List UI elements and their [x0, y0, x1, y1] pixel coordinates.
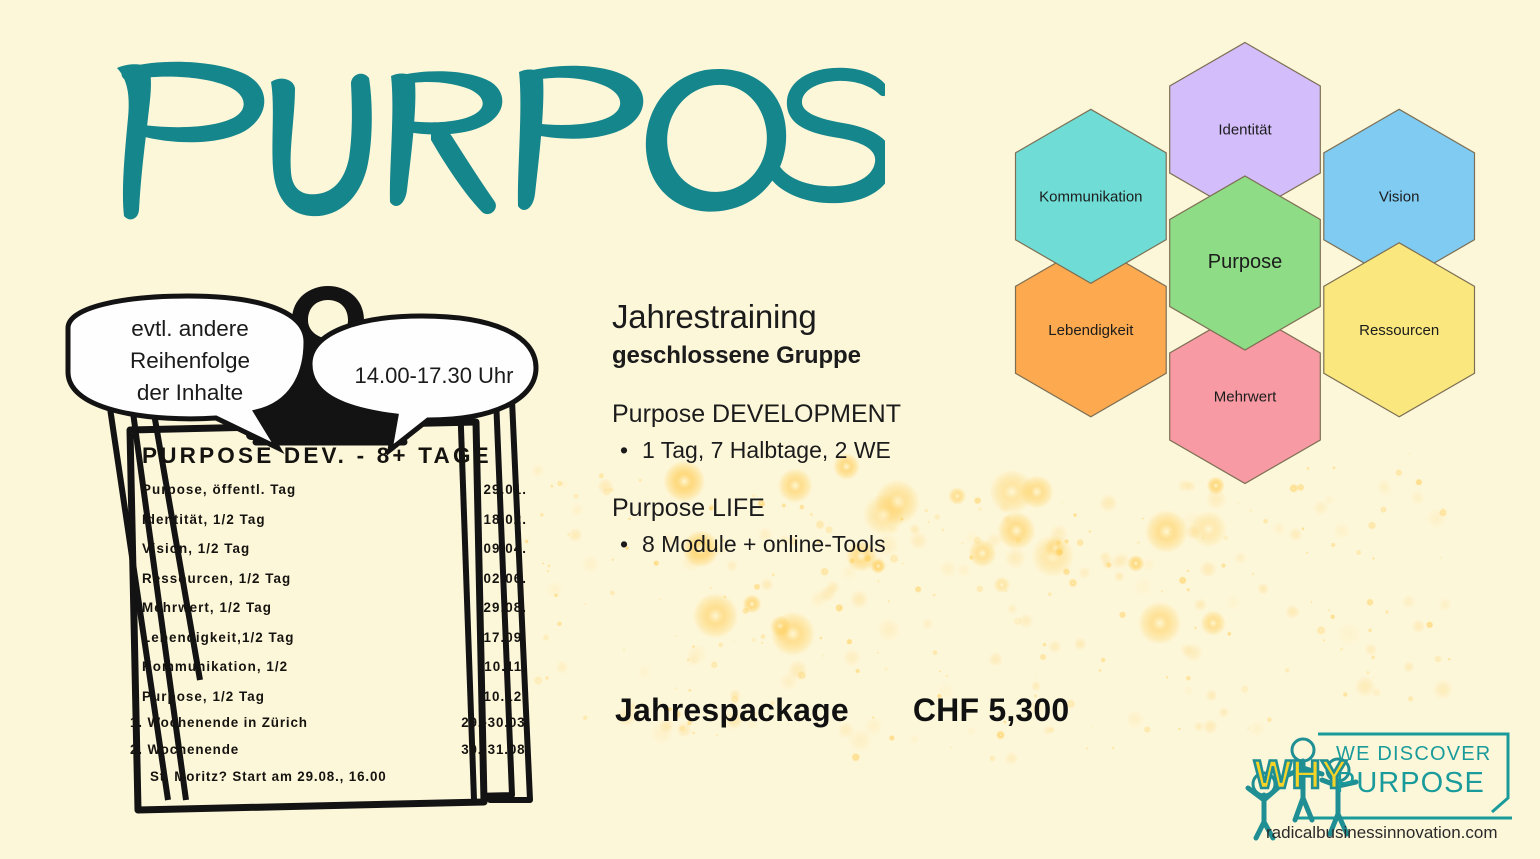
bokeh-particle: [1183, 643, 1203, 663]
logo[interactable]: WHY WE DISCOVER PURPOSE radicalbusinessi…: [1240, 726, 1530, 846]
bokeh-particle: [1225, 594, 1242, 611]
price-label: Jahrespackage: [615, 692, 849, 729]
bokeh-particle: [733, 640, 735, 642]
bokeh-particle: [1183, 685, 1194, 696]
bokeh-particle: [1411, 619, 1425, 633]
why-mark-text: WHY: [1254, 753, 1348, 797]
logo-tagline-line2: PURPOSE: [1336, 767, 1485, 799]
schedule-row-label: Lebendigkeit,1/2 Tag: [142, 630, 294, 645]
bokeh-particle: [1186, 588, 1190, 592]
bokeh-particle: [1439, 508, 1448, 517]
bokeh-particle: [1385, 610, 1389, 614]
bokeh-particle: [1440, 557, 1442, 559]
schedule-row: Kommunikation, 1/210.11.: [142, 659, 527, 689]
weekend-list: 1. Wochenende in Zürich29.-30.03.2. Woch…: [130, 715, 530, 796]
schedule-row: Mehrwert, 1/2 Tag29.08.: [142, 600, 527, 630]
bokeh-particle: [848, 728, 873, 753]
section-development-title: Purpose DEVELOPMENT: [612, 398, 1042, 431]
bokeh-particle: [760, 578, 773, 591]
bokeh-particle: [950, 746, 952, 748]
bokeh-particle: [1323, 494, 1335, 506]
bokeh-particle: [996, 730, 1005, 739]
schedule-row-label: Kommunikation, 1/2: [142, 659, 288, 674]
weekend-row-label: 1. Wochenende in Zürich: [130, 715, 308, 742]
bokeh-particle: [1048, 640, 1062, 654]
bokeh-particle: [1249, 509, 1252, 512]
bokeh-particle: [1035, 674, 1037, 676]
hexagon-label: Ressourcen: [1359, 322, 1439, 339]
weekend-row-label: 2. Wochenende: [130, 742, 239, 769]
schedule-row: Lebendigkeit,1/2 Tag17.09.: [142, 630, 527, 660]
bokeh-particle: [1086, 747, 1089, 750]
bokeh-highlight: [1127, 555, 1144, 572]
bokeh-particle: [1366, 598, 1374, 606]
bokeh-particle: [1074, 637, 1087, 650]
section-life-title: Purpose LIFE: [612, 492, 1042, 525]
bokeh-particle: [709, 586, 712, 589]
bokeh-particle: [761, 642, 764, 645]
bokeh-particle: [1013, 617, 1022, 626]
bokeh-particle: [1426, 508, 1447, 529]
bokeh-particle: [1107, 555, 1123, 571]
schedule-row-date: 10.11.: [484, 659, 527, 674]
bokeh-particle: [724, 596, 727, 599]
bokeh-particle: [1142, 517, 1144, 519]
bokeh-particle: [1099, 551, 1112, 564]
bokeh-particle: [826, 580, 840, 594]
bokeh-particle: [1433, 679, 1454, 700]
bokeh-particle: [1328, 609, 1331, 612]
bokeh-particle: [687, 658, 690, 661]
bokeh-particle: [1323, 639, 1325, 641]
bokeh-particle: [1403, 661, 1415, 673]
schedule-row: Vision, 1/2 Tag09.04.: [142, 541, 527, 571]
schedule-row-label: Identität, 1/2 Tag: [142, 512, 266, 527]
bokeh-particle: [1049, 524, 1068, 543]
price-row: Jahrespackage CHF 5,300: [615, 692, 1069, 729]
bokeh-particle: [1063, 568, 1071, 576]
bokeh-particle: [1368, 628, 1373, 633]
bokeh-particle: [887, 600, 890, 603]
bokeh-particle: [822, 654, 825, 657]
bokeh-particle: [1267, 717, 1273, 723]
bokeh-particle: [1042, 643, 1046, 647]
bokeh-particle: [1100, 657, 1105, 662]
bokeh-particle: [1311, 601, 1313, 603]
bokeh-particle: [1186, 675, 1192, 681]
bokeh-particle: [1061, 501, 1063, 503]
bokeh-particle: [760, 634, 766, 640]
bokeh-particle: [835, 604, 844, 613]
bokeh-particle: [675, 635, 677, 637]
bokeh-particle: [1263, 518, 1269, 524]
bokeh-particle: [1186, 569, 1189, 572]
speech-bubble-order-text: evtl. andere Reihenfolge der Inhalte: [90, 313, 290, 409]
bokeh-highlight: [994, 577, 1011, 594]
weekend-row: 2. Wochenende30.-31.08.: [130, 742, 530, 769]
bokeh-particle: [819, 586, 836, 603]
bokeh-particle: [1371, 655, 1376, 660]
bokeh-particle: [1332, 522, 1350, 540]
bokeh-particle: [846, 638, 853, 645]
bokeh-particle: [779, 672, 798, 691]
weekend-row-date: 29.-30.03.: [461, 715, 530, 742]
bokeh-particle: [1401, 594, 1416, 609]
bokeh-particle: [1302, 527, 1305, 530]
schedule-row: Purpose, 1/2 Tag10.12.: [142, 689, 527, 719]
bokeh-particle: [1178, 576, 1187, 585]
bokeh-particle: [1372, 557, 1375, 560]
bokeh-particle: [976, 585, 984, 593]
bullet-text: 1 Tag, 7 Halbtage, 2 WE: [642, 437, 891, 463]
bokeh-highlight: [743, 595, 762, 614]
bokeh-highlight: [770, 615, 791, 636]
bokeh-highlight: [1044, 537, 1066, 559]
bokeh-particle: [932, 650, 938, 656]
bokeh-particle: [1407, 696, 1413, 702]
bokeh-particle: [1178, 728, 1181, 731]
bokeh-particle: [1132, 576, 1153, 597]
bokeh-particle: [1205, 689, 1217, 701]
bokeh-particle: [692, 645, 695, 648]
bokeh-particle: [819, 636, 822, 639]
bokeh-particle: [809, 590, 827, 608]
bokeh-particle: [1252, 573, 1255, 576]
bokeh-particle: [989, 755, 996, 762]
bokeh-particle: [1076, 539, 1084, 547]
bokeh-particle: [939, 560, 957, 578]
bokeh-particle: [1234, 552, 1247, 565]
bokeh-particle: [988, 652, 1003, 667]
schedule-row-date: 29.01.: [483, 482, 527, 497]
bokeh-highlight: [871, 559, 886, 574]
bokeh-particle: [1313, 500, 1329, 516]
bokeh-highlight: [1190, 510, 1227, 547]
bokeh-particle: [1018, 613, 1034, 629]
bokeh-particle: [753, 583, 760, 590]
bokeh-particle: [1442, 508, 1444, 510]
bokeh-particle: [1091, 726, 1093, 728]
bokeh-highlight: [1145, 510, 1188, 553]
bokeh-particle: [1434, 655, 1442, 663]
bokeh-particle: [1340, 647, 1344, 651]
bokeh-particle: [653, 560, 659, 566]
bokeh-particle: [1366, 671, 1370, 675]
bokeh-particle: [1073, 513, 1077, 517]
bokeh-particle: [674, 687, 677, 690]
bokeh-particle: [1356, 550, 1362, 556]
weekend-note: St. Moritz? Start am 29.08., 16.00: [130, 769, 530, 796]
schedule-row: Purpose, öffentl. Tag29.01.: [142, 482, 527, 512]
bokeh-particle: [1221, 563, 1226, 568]
bokeh-particle: [1186, 525, 1201, 540]
bokeh-particle: [774, 626, 790, 642]
clipboard-schedule: evtl. andere Reihenfolge der Inhalte 14.…: [60, 280, 590, 840]
bokeh-particle: [1180, 643, 1194, 657]
bokeh-particle: [687, 654, 700, 667]
schedule-row-label: Purpose, öffentl. Tag: [142, 482, 296, 497]
bokeh-particle: [1111, 746, 1115, 750]
bokeh-particle: [772, 573, 776, 577]
bokeh-particle: [1380, 506, 1387, 513]
main-heading: Jahrestraining: [612, 296, 1042, 338]
bokeh-particle: [1240, 685, 1249, 694]
bokeh-particle: [1078, 566, 1091, 579]
bokeh-particle: [909, 733, 920, 744]
schedule-row-date: 18.02.: [483, 512, 527, 527]
bokeh-particle: [1227, 632, 1232, 637]
schedule-row-date: 10.12.: [483, 689, 527, 704]
hexagon-label: Vision: [1379, 188, 1420, 205]
hexagon-label: Identität: [1218, 122, 1272, 139]
bokeh-particle: [1257, 583, 1269, 595]
bokeh-particle: [1004, 751, 1019, 766]
bokeh-particle: [1237, 502, 1239, 504]
bokeh-particle: [716, 734, 718, 736]
bokeh-particle: [1141, 557, 1157, 573]
poster-canvas: evtl. andere Reihenfolge der Inhalte 14.…: [0, 0, 1540, 859]
bokeh-particle: [637, 664, 653, 680]
bokeh-particle: [1272, 522, 1286, 536]
bokeh-highlight: [693, 593, 739, 639]
bokeh-particle: [884, 667, 888, 671]
bokeh-particle: [1202, 719, 1218, 735]
bokeh-particle: [1064, 539, 1069, 544]
bokeh-particle: [1218, 707, 1229, 718]
bokeh-particle: [1202, 537, 1204, 539]
bokeh-particle: [1316, 626, 1326, 636]
bokeh-particle: [1306, 552, 1308, 554]
bokeh-particle: [1143, 726, 1151, 734]
bokeh-particle: [1068, 578, 1077, 587]
bokeh-particle: [1180, 510, 1205, 535]
hexagon-label: Purpose: [1208, 251, 1283, 273]
bokeh-particle: [1106, 562, 1112, 568]
section-development: Purpose DEVELOPMENT • 1 Tag, 7 Halbtage,…: [612, 398, 1042, 466]
bokeh-particle: [1031, 681, 1042, 692]
bokeh-particle: [1005, 590, 1007, 592]
bokeh-particle: [1119, 611, 1127, 619]
schedule-row-date: 02.06.: [483, 571, 527, 586]
bokeh-particle: [1330, 614, 1335, 619]
bokeh-particle: [1364, 643, 1377, 656]
bokeh-highlight: [771, 611, 816, 656]
bokeh-particle: [840, 563, 858, 581]
section-development-bullet: • 1 Tag, 7 Halbtage, 2 WE: [612, 434, 1042, 466]
bokeh-particle: [1125, 709, 1145, 729]
logo-tagline-line1: WE DISCOVER: [1336, 743, 1491, 765]
bokeh-particle: [1438, 597, 1452, 611]
bokeh-particle: [726, 560, 739, 573]
schedule-list: Purpose, öffentl. Tag29.01.Identität, 1/…: [142, 482, 527, 718]
bokeh-particle: [1371, 687, 1382, 698]
bokeh-highlight: [1138, 601, 1182, 645]
weekend-row: 1. Wochenende in Zürich29.-30.03.: [130, 715, 530, 742]
bokeh-particle: [921, 618, 933, 630]
bokeh-particle: [710, 661, 718, 669]
hexagon-label: Kommunikation: [1039, 188, 1142, 205]
bokeh-particle: [1336, 621, 1362, 647]
bokeh-particle: [1194, 626, 1197, 629]
sheet-title: PURPOSE DEV. - 8+ TAGE: [142, 443, 502, 469]
bokeh-particle: [1098, 669, 1101, 672]
bokeh-particle: [1285, 604, 1300, 619]
bullet-text: 8 Module + online-Tools: [642, 531, 886, 557]
why-mark: WHY: [1254, 753, 1348, 797]
bokeh-particle: [1194, 598, 1208, 612]
schedule-row-label: Purpose, 1/2 Tag: [142, 689, 265, 704]
bokeh-particle: [1166, 676, 1169, 679]
bullet-dot-icon: •: [620, 528, 628, 560]
schedule-row-label: Ressourcen, 1/2 Tag: [142, 571, 291, 586]
bokeh-particle: [1372, 677, 1374, 679]
bokeh-particle: [820, 567, 829, 576]
bokeh-particle: [718, 642, 724, 648]
bokeh-particle: [1426, 621, 1434, 629]
bokeh-particle: [877, 618, 901, 642]
bokeh-particle: [1099, 494, 1118, 513]
bokeh-particle: [751, 637, 756, 642]
bokeh-particle: [1368, 521, 1377, 530]
bokeh-particle: [1102, 559, 1112, 569]
bokeh-particle: [686, 643, 708, 665]
bokeh-particle: [855, 668, 860, 673]
bokeh-particle: [602, 487, 611, 496]
schedule-row-date: 17.09.: [483, 630, 527, 645]
bokeh-particle: [956, 563, 971, 578]
bokeh-particle: [1343, 692, 1348, 697]
bokeh-particle: [1136, 541, 1140, 545]
hexagon-label: Mehrwert: [1214, 389, 1277, 406]
bokeh-particle: [877, 580, 880, 583]
schedule-row-label: Vision, 1/2 Tag: [142, 541, 250, 556]
bokeh-particle: [692, 731, 695, 734]
bullet-dot-icon: •: [620, 434, 628, 466]
page-title: [95, 40, 885, 240]
hexagon-label: Lebendigkeit: [1048, 322, 1134, 339]
bokeh-particle: [933, 593, 936, 596]
bokeh-particle: [1047, 592, 1052, 597]
bokeh-particle: [1161, 590, 1164, 593]
bokeh-particle: [1055, 548, 1063, 556]
bokeh-particle: [843, 648, 862, 667]
schedule-row-date: 09.04.: [483, 541, 527, 556]
section-life-bullet: • 8 Module + online-Tools: [612, 528, 1042, 560]
bokeh-particle: [623, 649, 625, 651]
schedule-row-label: Mehrwert, 1/2 Tag: [142, 600, 272, 615]
price-value: CHF 5,300: [913, 692, 1070, 729]
bokeh-particle: [902, 562, 904, 564]
bokeh-particle: [1354, 676, 1376, 698]
bokeh-particle: [1331, 542, 1336, 547]
weekend-row-date: 30.-31.08.: [461, 742, 530, 769]
bokeh-particle: [742, 607, 749, 614]
bokeh-particle: [787, 660, 808, 681]
bokeh-particle: [610, 590, 616, 596]
bokeh-particle: [915, 586, 922, 593]
bokeh-particle: [939, 670, 941, 672]
hexagon-diagram-svg: IdentitätVisionRessourcenMehrwertLebendi…: [985, 25, 1505, 495]
bokeh-particle: [1223, 535, 1229, 541]
bokeh-particle: [598, 473, 604, 479]
schedule-row: Identität, 1/2 Tag18.02.: [142, 512, 527, 542]
bokeh-particle: [1039, 654, 1046, 661]
bokeh-particle: [659, 598, 661, 600]
bokeh-particle: [889, 735, 895, 741]
bokeh-particle: [1285, 668, 1290, 673]
bokeh-highlight: [1200, 610, 1226, 636]
bokeh-particle: [1199, 560, 1217, 578]
main-text-column: Jahrestraining geschlossene Gruppe Purpo…: [612, 296, 1042, 560]
schedule-row: Ressourcen, 1/2 Tag02.06.: [142, 571, 527, 601]
bokeh-particle: [1007, 603, 1018, 614]
bokeh-particle: [850, 590, 869, 609]
bokeh-particle: [946, 675, 948, 677]
bokeh-particle: [797, 671, 806, 680]
bokeh-particle: [1088, 530, 1091, 533]
bokeh-particle: [1114, 552, 1130, 568]
schedule-row-date: 29.08.: [483, 600, 527, 615]
main-subheading: geschlossene Gruppe: [612, 340, 1042, 372]
bokeh-particle: [1448, 658, 1451, 661]
speech-bubble-time-text: 14.00-17.30 Uhr: [328, 360, 540, 392]
bokeh-particle: [1169, 530, 1172, 533]
bokeh-particle: [1114, 571, 1125, 582]
bokeh-particle: [1289, 527, 1303, 541]
hexagon-diagram: IdentitätVisionRessourcenMehrwertLebendi…: [985, 25, 1505, 495]
section-life: Purpose LIFE • 8 Module + online-Tools: [612, 492, 1042, 560]
bokeh-particle: [1056, 540, 1061, 545]
bokeh-particle: [877, 652, 879, 654]
bokeh-particle: [1194, 721, 1205, 732]
logo-website: radicalbusinessinnovation.com: [1266, 823, 1498, 842]
bokeh-particle: [851, 753, 860, 762]
